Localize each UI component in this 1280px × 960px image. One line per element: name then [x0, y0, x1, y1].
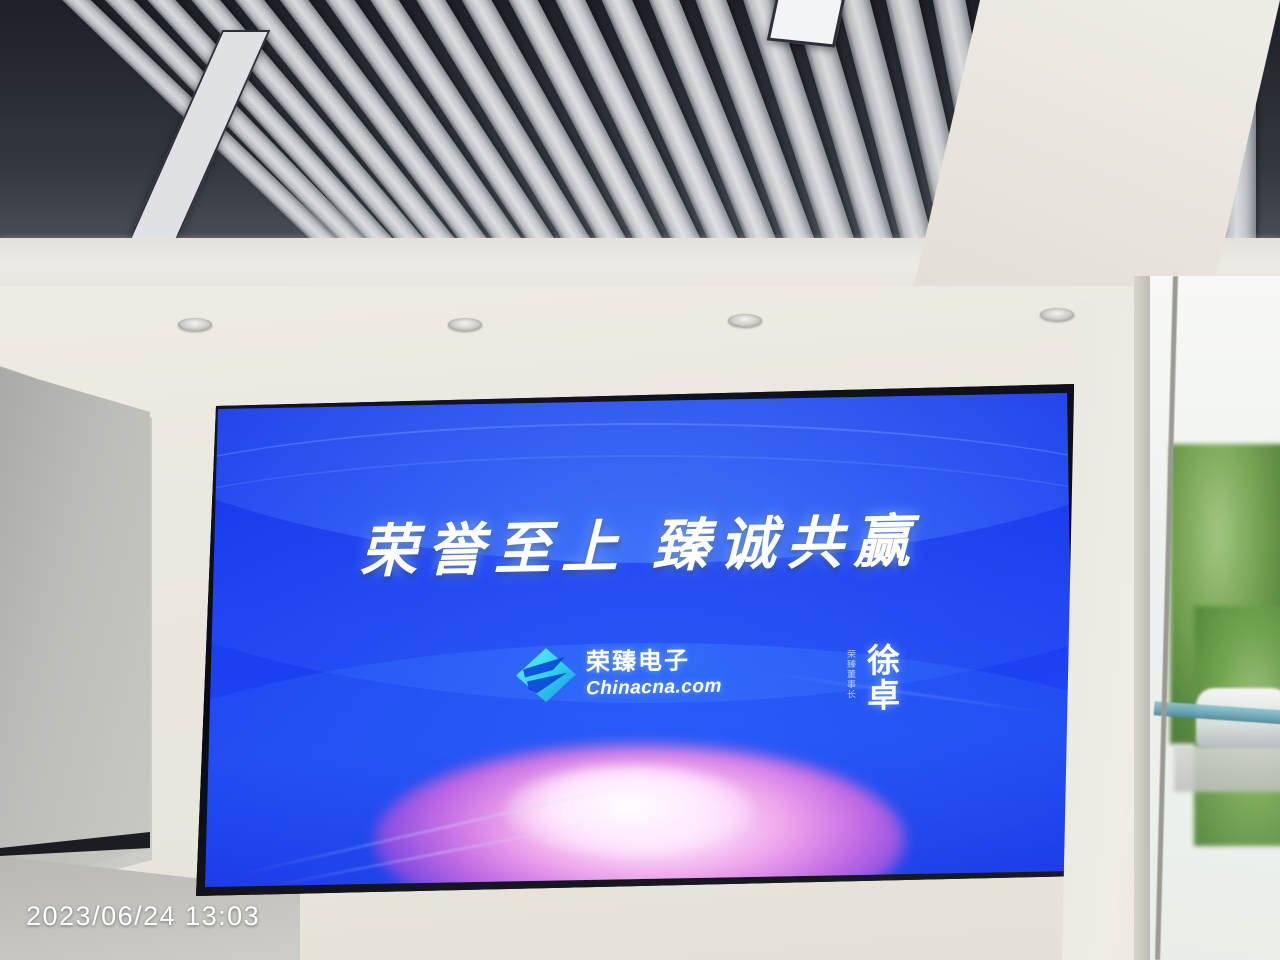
logo-text-block: 荣臻电子 Chinacna.com	[586, 648, 722, 698]
exterior-window	[1134, 276, 1280, 960]
downlight-4	[1040, 308, 1074, 321]
led-video-wall[interactable]: 荣誉至上 臻诚共赢	[196, 384, 1084, 896]
stage-glow-core	[505, 765, 755, 857]
photo-scene: 荣誉至上 臻诚共赢	[0, 0, 1280, 960]
screen-surface: 荣誉至上 臻诚共赢	[205, 393, 1075, 887]
ceiling-vent-panel	[767, 0, 846, 48]
downlight-1	[178, 318, 212, 331]
camera-timestamp: 2023/06/24 13:03	[26, 901, 260, 932]
rongzhen-diamond-icon	[515, 646, 577, 703]
signature-name: 徐卓	[862, 643, 896, 714]
downlight-3	[728, 314, 762, 327]
signature-title: 荣臻董事长	[845, 649, 858, 699]
logo-website: Chinacna.com	[586, 676, 722, 698]
window-road	[1174, 746, 1280, 792]
window-frame-left	[1134, 276, 1150, 960]
left-doorway-alcove	[0, 360, 155, 890]
company-logo: 荣臻电子 Chinacna.com	[515, 636, 795, 709]
signature-block: 荣臻董事长 徐卓	[845, 643, 896, 714]
logo-company-name: 荣臻电子	[586, 648, 722, 675]
downlight-2	[448, 318, 482, 331]
slogan-text: 荣誉至上 臻诚共赢	[205, 493, 1075, 592]
